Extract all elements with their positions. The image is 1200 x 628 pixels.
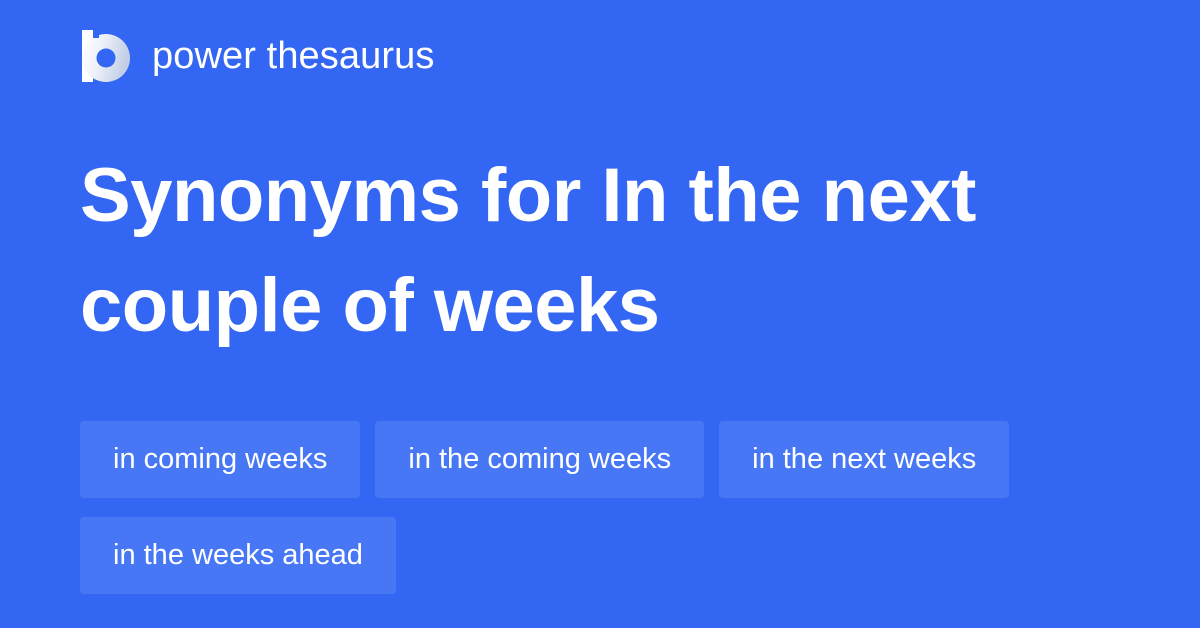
synonym-chip[interactable]: in coming weeks <box>80 421 360 498</box>
power-thesaurus-b-logo-icon <box>82 30 130 82</box>
page-title: Synonyms for In the next couple of weeks <box>80 141 1090 361</box>
brand-name: power thesaurus <box>152 37 434 75</box>
brand-header[interactable]: power thesaurus <box>82 28 434 84</box>
synonym-chip[interactable]: in the coming weeks <box>375 421 704 498</box>
synonym-chip[interactable]: in the weeks ahead <box>80 517 396 594</box>
synonym-chip-list: in coming weeks in the coming weeks in t… <box>80 421 1120 594</box>
synonym-chip[interactable]: in the next weeks <box>719 421 1009 498</box>
share-card: power thesaurus Synonyms for In the next… <box>0 0 1200 628</box>
